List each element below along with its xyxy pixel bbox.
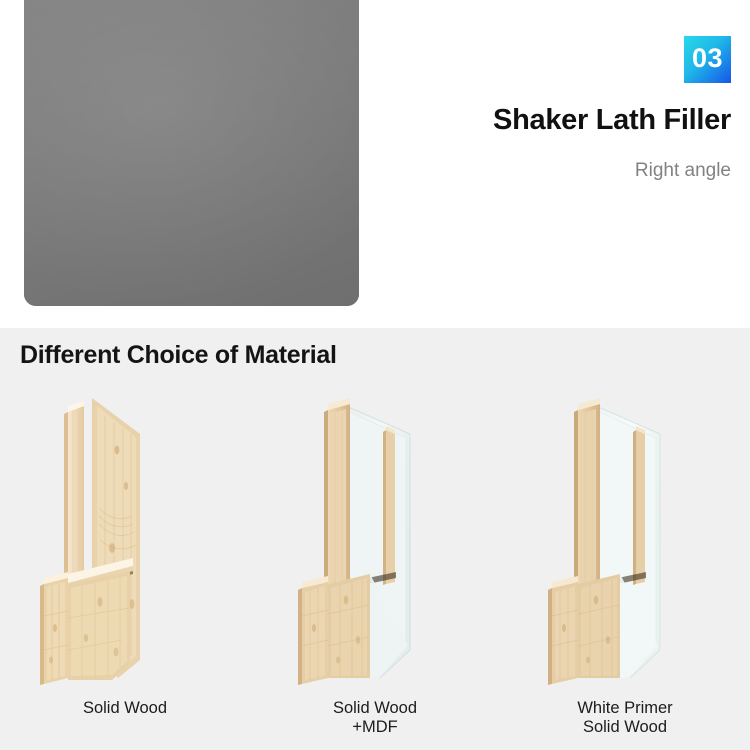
page-subtitle: Right angle — [635, 160, 731, 182]
material-label-solid-wood-mdf: Solid Wood +MDF — [250, 699, 500, 737]
material-label-line2: +MDF — [250, 718, 500, 737]
hero-product-photo — [24, 0, 359, 306]
material-label-solid-wood: Solid Wood — [0, 699, 250, 718]
badge-number-text: 03 — [692, 45, 723, 72]
material-sample-white-primer-solid-wood — [500, 388, 750, 688]
white-primer-solid-wood-illustration — [500, 388, 750, 688]
solid-wood-mdf-illustration — [250, 388, 500, 688]
hero-section: 03 Shaker Lath Filler Right angle — [0, 0, 750, 328]
solid-wood-illustration — [0, 388, 250, 688]
materials-section-heading: Different Choice of Material — [20, 341, 337, 370]
material-label-line2: Solid Wood — [500, 718, 750, 737]
material-label-white-primer-solid-wood: White Primer Solid Wood — [500, 699, 750, 737]
material-sample-solid-wood-mdf — [250, 388, 500, 688]
material-label-line1: Solid Wood — [83, 699, 167, 717]
material-label-line1: Solid Wood — [333, 699, 417, 717]
photo-background — [24, 0, 359, 306]
material-sample-solid-wood — [0, 388, 250, 688]
page-title: Shaker Lath Filler — [493, 104, 731, 137]
step-number-badge: 03 — [684, 36, 731, 83]
material-label-line1: White Primer — [577, 699, 672, 717]
hero-photo-canvas — [24, 0, 359, 306]
